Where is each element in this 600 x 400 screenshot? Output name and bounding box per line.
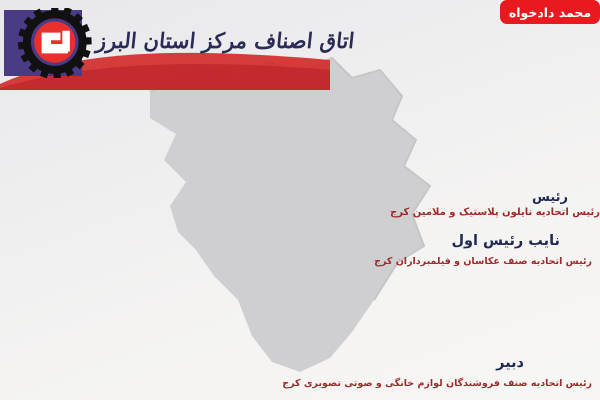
role-president: رئیس [500, 190, 600, 205]
role-secretary: دبیر [496, 355, 524, 371]
description-vice-president-first: رئیس اتحادیه صنف عکاسان و فیلمبرداران کر… [374, 256, 592, 267]
description-president: رئیس اتحادیه نایلون پلاستیک و ملامین کرج [500, 207, 600, 218]
role-vice-president-first: نایب رئیس اول [451, 233, 560, 249]
gear-icon [8, 8, 98, 78]
name-banner-president: محمد دادخواه [500, 0, 600, 24]
person-card-president: محمد دادخواه رئیس رئیس اتحادیه نایلون پل… [500, 0, 600, 24]
description-secretary: رئیس اتحادیه صنف فروشندگان لوازم خانگی و… [282, 378, 592, 389]
page-title: اتاق اصناف مرکز استان البرز [94, 28, 355, 59]
logo [4, 8, 96, 78]
